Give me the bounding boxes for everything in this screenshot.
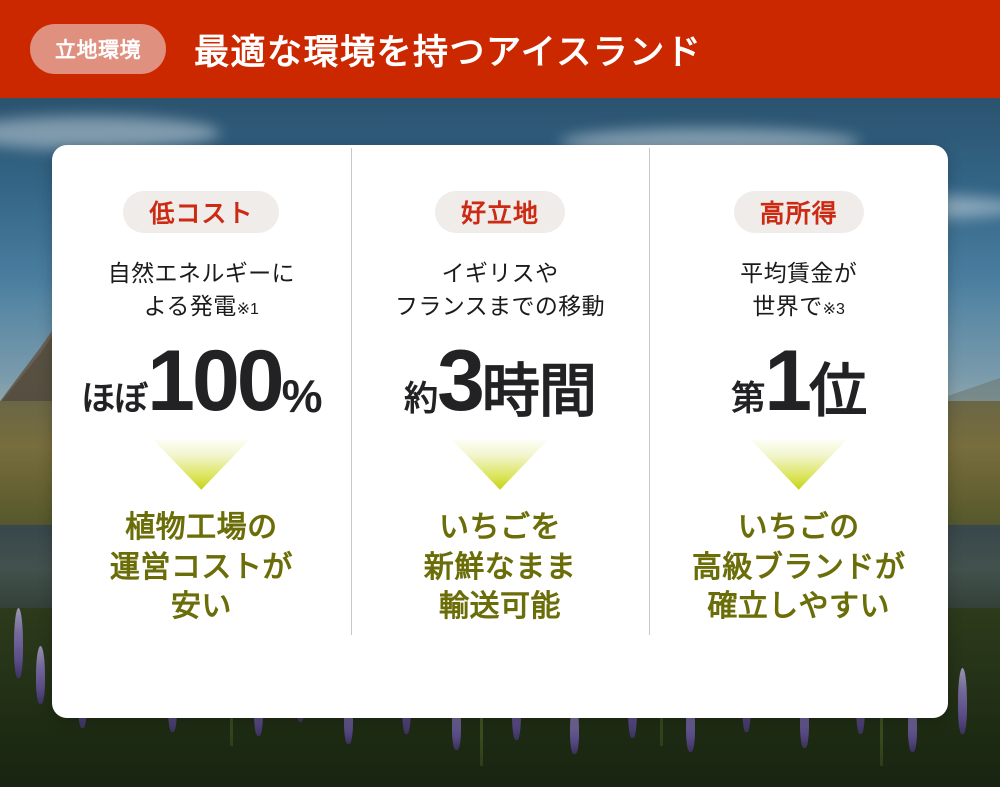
down-arrow-icon — [153, 440, 249, 490]
column-tag-label: 低コスト — [149, 194, 253, 230]
column-result-text: いちごを 新鮮なまま 輸送可能 — [424, 508, 577, 628]
column-tag-label: 好立地 — [461, 194, 539, 230]
result-line-1: 植物工場の — [110, 508, 293, 548]
lead-line-1: 自然エネルギーに — [108, 257, 295, 290]
result-line-2: 高級ブランドが — [692, 548, 906, 588]
figure-prefix: 第 — [731, 382, 764, 424]
column-figure: 約 3 時間 — [404, 338, 596, 424]
feature-column-low-cost: 低コスト 自然エネルギーに よる発電※1 ほぼ 100 % 植物工場の 運営コス… — [52, 145, 351, 718]
figure-number: 100 — [147, 338, 282, 424]
column-tag-badge: 好立地 — [435, 191, 565, 233]
column-result-text: 植物工場の 運営コストが 安い — [110, 508, 293, 628]
column-lead-text: 自然エネルギーに よる発電※1 — [108, 257, 295, 324]
column-result-text: いちごの 高級ブランドが 確立しやすい — [692, 508, 906, 628]
lead-line-1: イギリスや — [395, 257, 605, 290]
column-tag-label: 高所得 — [760, 194, 838, 230]
column-figure: ほぼ 100 % — [81, 338, 321, 424]
lead-line-2-text: よる発電 — [144, 293, 237, 319]
result-line-1: いちごの — [692, 508, 906, 548]
figure-suffix: 位 — [809, 363, 866, 424]
figure-number: 3 — [437, 338, 482, 424]
result-line-2: 運営コストが — [110, 548, 293, 588]
lead-line-2-text: フランスまでの移動 — [395, 293, 605, 319]
feature-column-good-location: 好立地 イギリスや フランスまでの移動 約 3 時間 いちごを 新鮮なまま 輸送… — [351, 145, 650, 718]
page-title: 最適な環境を持つアイスランド — [194, 24, 702, 75]
figure-prefix: ほぼ — [81, 382, 147, 424]
lead-line-2: よる発電※1 — [108, 290, 295, 323]
result-line-1: いちごを — [424, 508, 577, 548]
result-line-3: 確立しやすい — [692, 587, 906, 627]
column-lead-text: 平均賃金が 世界で※3 — [740, 257, 857, 324]
column-tag-badge: 高所得 — [734, 191, 864, 233]
infographic-slide: 立地環境 最適な環境を持つアイスランド 低コスト 自然エネルギーに よる発電※1… — [0, 0, 1000, 787]
lead-line-2-text: 世界で — [752, 293, 822, 319]
figure-number: 1 — [764, 338, 809, 424]
header-category-badge: 立地環境 — [30, 24, 166, 74]
lead-footnote-marker: ※1 — [237, 301, 259, 318]
down-arrow-icon — [751, 440, 847, 490]
lead-footnote-marker: ※3 — [823, 301, 845, 318]
figure-prefix: 約 — [404, 382, 437, 424]
figure-suffix: 時間 — [482, 363, 596, 424]
header-band: 立地環境 最適な環境を持つアイスランド — [0, 0, 1000, 98]
result-line-3: 輸送可能 — [424, 587, 577, 627]
lead-line-1: 平均賃金が — [740, 257, 857, 290]
column-lead-text: イギリスや フランスまでの移動 — [395, 257, 605, 324]
column-figure: 第 1 位 — [731, 338, 866, 424]
lead-line-2: フランスまでの移動 — [395, 290, 605, 323]
header-badge-label: 立地環境 — [55, 34, 141, 64]
down-arrow-icon — [452, 440, 548, 490]
result-line-2: 新鮮なまま — [424, 548, 577, 588]
content-card: 低コスト 自然エネルギーに よる発電※1 ほぼ 100 % 植物工場の 運営コス… — [52, 145, 948, 718]
lead-line-2: 世界で※3 — [740, 290, 857, 323]
column-tag-badge: 低コスト — [123, 191, 279, 233]
feature-column-high-income: 高所得 平均賃金が 世界で※3 第 1 位 いちごの 高級ブランドが 確立しやす… — [649, 145, 948, 718]
figure-suffix: % — [282, 373, 322, 424]
result-line-3: 安い — [110, 587, 293, 627]
